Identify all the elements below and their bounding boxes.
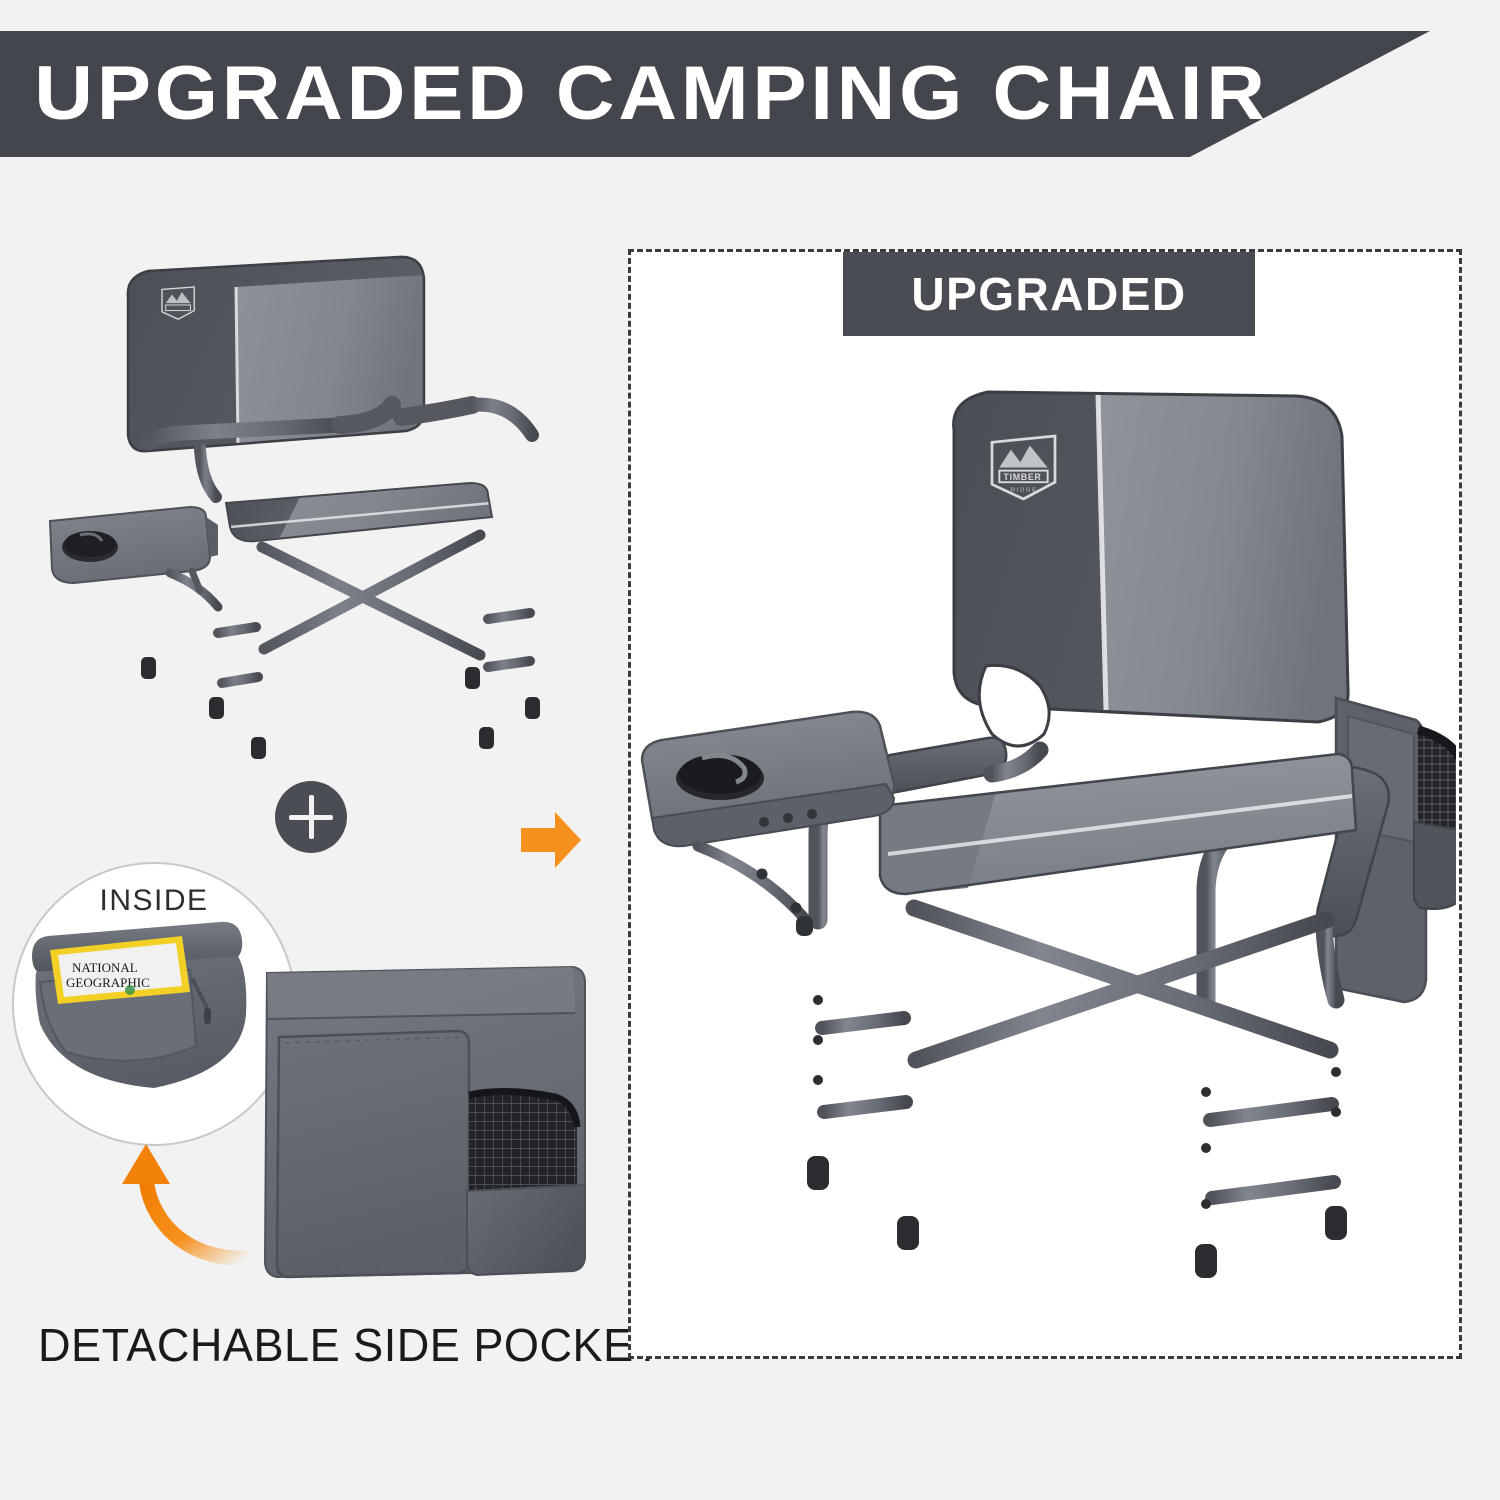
base-chair-front-frame (216, 435, 532, 745)
detached-pocket-svg (255, 955, 605, 1295)
right-arrow-icon (517, 806, 585, 874)
cup-holder-pouch-base (467, 1185, 585, 1275)
upgraded-badge-label: UPGRADED (911, 271, 1186, 317)
pocket-top-hem (267, 967, 575, 1019)
upgraded-chair-feet (807, 1156, 1347, 1278)
base-chair-seat (226, 483, 492, 541)
pocket-flat-compartment (277, 1031, 469, 1277)
magazine-title-line2: GEOGRAPHIC (66, 975, 150, 990)
base-chair-side-table (50, 507, 218, 607)
curved-up-arrow-icon (100, 1140, 250, 1265)
plus-icon-vertical-bar (309, 795, 314, 839)
upgraded-chair-image: TIMBER RIDGE (636, 360, 1456, 1320)
brand-logo-line2: RIDGE (1011, 488, 1038, 494)
upgraded-chair-lower-frame (813, 894, 1341, 1260)
base-chair-svg (40, 235, 570, 765)
upgraded-chair-side-table (642, 712, 894, 936)
upgraded-chair-backrest: TIMBER RIDGE (954, 392, 1348, 746)
magazine-title-line1: NATIONAL (72, 960, 138, 975)
detachable-side-pocket-caption: DETACHABLE SIDE POCKET (38, 1318, 662, 1372)
inside-detail-inset: INSIDE NATIONAL GEOGRAPHIC (12, 862, 296, 1146)
plus-icon (275, 781, 347, 853)
header-banner: UPGRADED CAMPING CHAIR (0, 31, 1430, 157)
page-title: UPGRADED CAMPING CHAIR (0, 56, 1269, 132)
detachable-side-pocket-image (255, 955, 605, 1295)
brand-logo-line1: TIMBER (1004, 472, 1042, 482)
base-chair-image (40, 235, 570, 765)
inside-pocket-svg: NATIONAL GEOGRAPHIC (14, 864, 296, 1146)
upgraded-chair-svg: TIMBER RIDGE (636, 360, 1456, 1320)
upgraded-badge: UPGRADED (843, 252, 1255, 336)
